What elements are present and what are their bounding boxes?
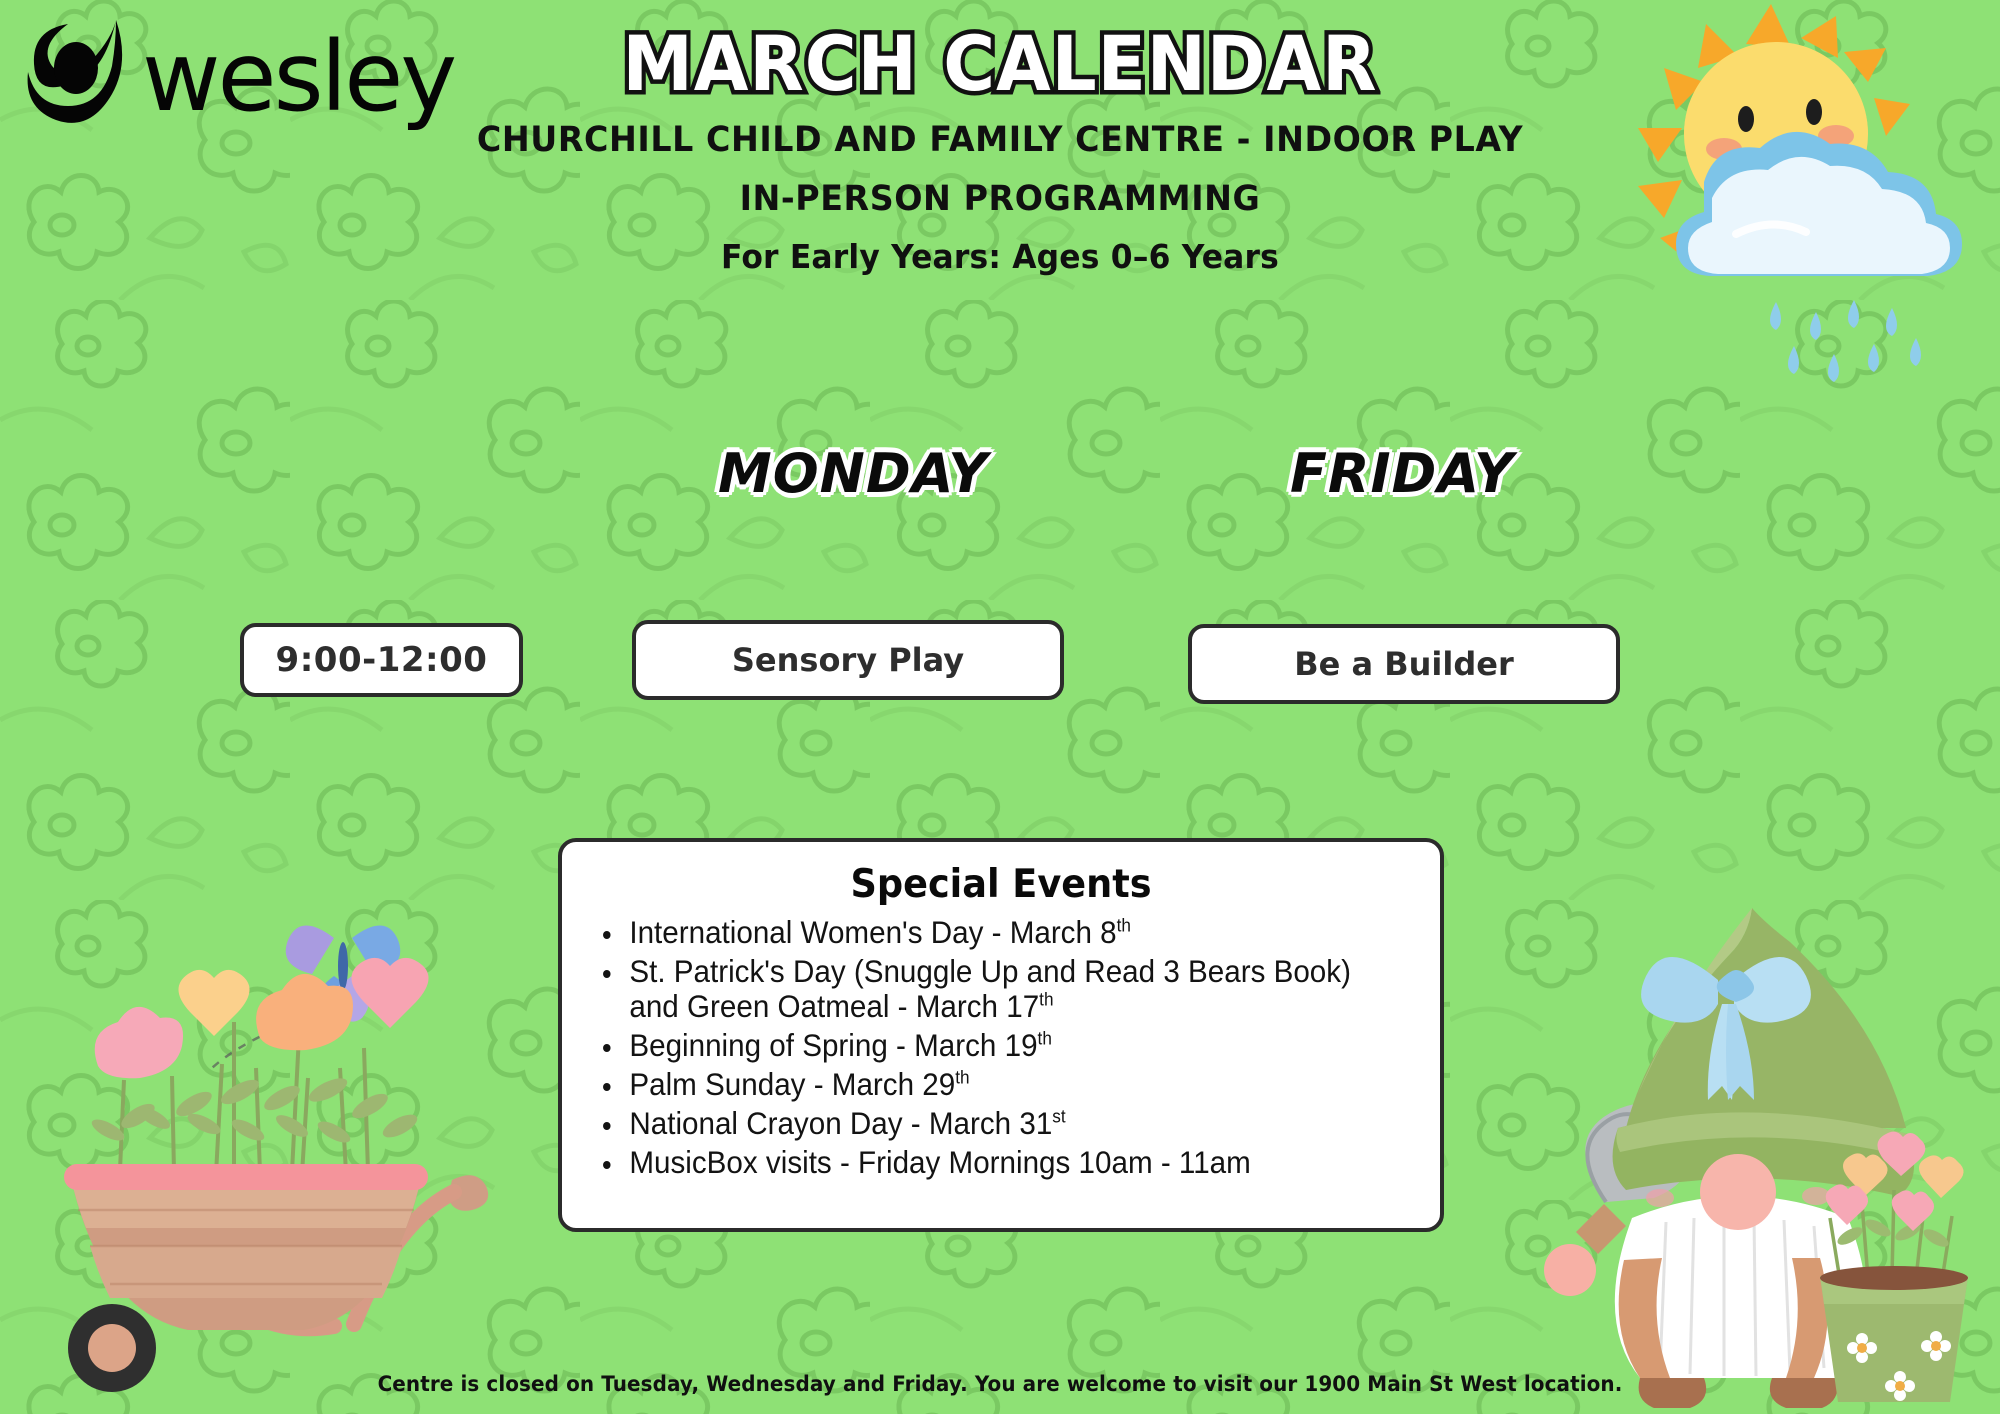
event-text: International Women's Day - March 8 <box>629 914 1116 950</box>
event-text: Palm Sunday - March 29 <box>629 1066 955 1102</box>
activity-card-friday: Be a Builder <box>1188 624 1620 704</box>
page-title: MARCH CALENDAR <box>70 24 1930 104</box>
list-item: National Crayon Day - March 31st <box>588 1106 1364 1141</box>
header-block: MARCH CALENDAR CHURCHILL CHILD AND FAMIL… <box>0 24 2000 276</box>
age-range-label: For Early Years: Ages 0–6 Years <box>50 237 1950 276</box>
special-events-panel: Special Events International Women's Day… <box>558 838 1444 1232</box>
list-item: International Women's Day - March 8th <box>588 915 1364 950</box>
event-text: National Crayon Day - March 31 <box>629 1105 1052 1141</box>
footer-note: Centre is closed on Tuesday, Wednesday a… <box>50 1372 1950 1396</box>
event-ordinal: th <box>1039 988 1053 1009</box>
day-header-friday: FRIDAY <box>1290 442 1514 505</box>
event-ordinal: th <box>1117 915 1131 936</box>
event-text: St. Patrick's Day (Snuggle Up and Read 3… <box>629 953 1351 1024</box>
activity-card-monday: Sensory Play <box>632 620 1064 700</box>
march-calendar-poster: wesley MARCH CALENDAR CHURCHILL CHILD AN… <box>0 0 2000 1414</box>
list-item: St. Patrick's Day (Snuggle Up and Read 3… <box>588 954 1364 1024</box>
event-ordinal: th <box>1038 1027 1052 1048</box>
event-text: MusicBox visits - Friday Mornings 10am -… <box>629 1144 1250 1180</box>
list-item: MusicBox visits - Friday Mornings 10am -… <box>588 1145 1364 1180</box>
subtitle-line-1: CHURCHILL CHILD AND FAMILY CENTRE - INDO… <box>50 118 1950 163</box>
time-slot-card: 9:00-12:00 <box>240 623 523 697</box>
event-text: Beginning of Spring - March 19 <box>629 1027 1037 1063</box>
list-item: Palm Sunday - March 29th <box>588 1067 1364 1102</box>
event-ordinal: st <box>1052 1105 1065 1126</box>
special-events-title: Special Events <box>613 862 1389 907</box>
special-events-list: International Women's Day - March 8th St… <box>588 915 1414 1180</box>
event-ordinal: th <box>955 1066 969 1087</box>
list-item: Beginning of Spring - March 19th <box>588 1028 1364 1063</box>
day-header-monday: MONDAY <box>718 442 988 505</box>
subtitle-line-2: IN-PERSON PROGRAMMING <box>50 177 1950 222</box>
